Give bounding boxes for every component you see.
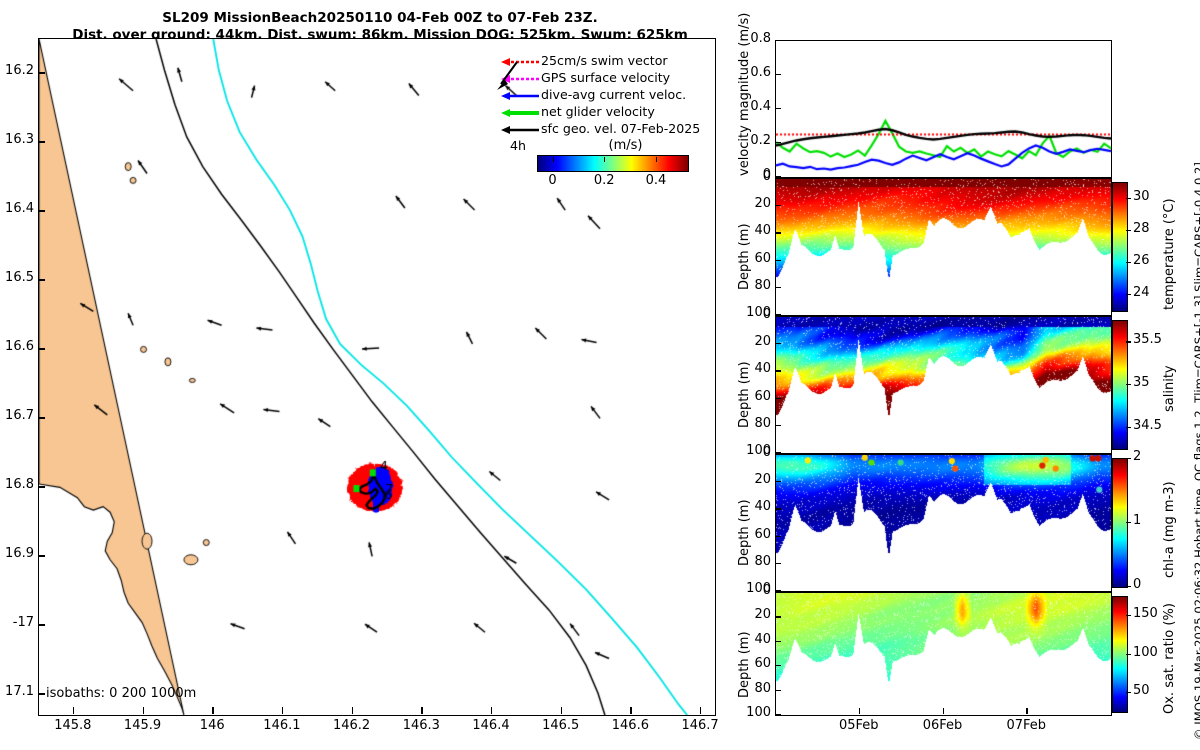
map-x-tick-label: 145.8 <box>47 718 99 733</box>
isobaths-label: isobaths: 0 200 1000m <box>46 686 196 701</box>
velocity-axis-label: velocity magnitude (m/s) <box>737 13 752 176</box>
map-legend: 25cm/s swim vectorGPS surface velocitydi… <box>497 52 712 188</box>
velocity-colorbar-tick <box>604 157 605 162</box>
oxygen-colorbar <box>1112 596 1128 713</box>
map-y-tick-label: 16.9 <box>0 546 34 561</box>
chlorophyll-canvas <box>776 455 1111 591</box>
depth-tick-label: 0 <box>727 445 771 460</box>
depth-tick-label: 100 <box>727 581 771 596</box>
temperature-depth-label: Depth (m) <box>737 223 752 290</box>
time-tick-label: 06Feb <box>909 718 977 733</box>
salinity-canvas <box>776 317 1111 453</box>
map-x-tick-label: 146 <box>186 718 238 733</box>
chlorophyll-panel[interactable] <box>775 454 1112 592</box>
arrow-left-icon <box>497 122 541 136</box>
chlorophyll-depth-label: Depth (m) <box>737 499 752 566</box>
map-x-tick-label: 146.4 <box>465 718 517 733</box>
legend-item-label: 25cm/s swim vector <box>541 53 668 68</box>
legend-item-label: net glider velocity <box>541 104 655 119</box>
page-title-line1: SL209 MissionBeach20250110 04-Feb 00Z to… <box>0 10 760 26</box>
scale-arrow-icon <box>495 60 525 98</box>
depth-tick-label: 0 <box>727 583 771 598</box>
legend-item-label: GPS surface velocity <box>541 70 670 85</box>
map-x-tick-label: 146.3 <box>395 718 447 733</box>
map-x-tick-label: 146.2 <box>326 718 378 733</box>
oxygen-panel[interactable] <box>775 592 1112 716</box>
arrow-left-icon <box>497 105 541 119</box>
map-y-tick-label: -17 <box>0 615 34 630</box>
velocity-colorbar-tick <box>553 157 554 162</box>
map-y-tick-label: 17.1 <box>0 684 34 699</box>
map-x-tick-label: 146.6 <box>604 718 656 733</box>
salinity-panel[interactable] <box>775 316 1112 454</box>
salinity-colorbar <box>1112 320 1128 450</box>
map-y-tick-label: 16.4 <box>0 201 34 216</box>
legend-colorbar-units: (m/s) <box>539 138 712 153</box>
legend-item-1: GPS surface velocity <box>497 69 712 86</box>
temperature-panel[interactable] <box>775 178 1112 316</box>
map-x-tick-label: 146.5 <box>535 718 587 733</box>
depth-tick-label: 100 <box>727 305 771 320</box>
colorbar-tick-label: 0 <box>1133 577 1177 592</box>
oxygen-colorbar-label: Ox. sat. ratio (%) <box>1162 603 1177 714</box>
chlorophyll-colorbar <box>1112 458 1128 588</box>
velocity-colorbar-tick <box>656 157 657 162</box>
legend-item-3: net glider velocity <box>497 103 712 120</box>
depth-tick-label: 100 <box>727 705 771 720</box>
velocity-colorbar <box>537 155 689 172</box>
temperature-canvas <box>776 179 1111 315</box>
legend-item-label: dive-avg current veloc. <box>541 87 686 102</box>
velocity-magnitude-canvas <box>776 41 1111 177</box>
map-x-tick-label: 146.1 <box>256 718 308 733</box>
velocity-colorbar-tick-label: 0.2 <box>582 173 626 188</box>
temperature-colorbar <box>1112 182 1128 312</box>
map-x-tick-label: 146.7 <box>674 718 726 733</box>
map-y-tick-label: 16.5 <box>0 270 34 285</box>
depth-tick-label: 20 <box>727 196 771 211</box>
oxygen-depth-label: Depth (m) <box>737 631 752 698</box>
legend-item-label: sfc geo. vel. 07-Feb-2025 <box>541 121 700 136</box>
imos-credit: © IMOS 19-Mar-2025 02:06:32 Hobart time.… <box>1192 162 1200 740</box>
legend-item-4: sfc geo. vel. 07-Feb-2025 <box>497 120 712 137</box>
depth-tick-label: 100 <box>727 443 771 458</box>
colorbar-tick-label: 35.5 <box>1133 332 1177 347</box>
legend-item-2: dive-avg current veloc. <box>497 86 712 103</box>
salinity-colorbar-label: salinity <box>1162 365 1177 412</box>
depth-tick-label: 20 <box>727 607 771 622</box>
time-tick-label: 05Feb <box>825 718 893 733</box>
map-y-tick-label: 16.3 <box>0 132 34 147</box>
map-y-tick-label: 16.2 <box>0 63 34 78</box>
colorbar-tick-label: 2 <box>1133 449 1177 464</box>
velocity-colorbar-tick-label: 0 <box>531 173 575 188</box>
time-tick-label: 07Feb <box>992 718 1060 733</box>
salinity-depth-label: Depth (m) <box>737 361 752 428</box>
chlorophyll-colorbar-label: chl-a (mg m-3) <box>1162 481 1177 578</box>
map-y-tick-label: 16.7 <box>0 408 34 423</box>
legend-item-0: 25cm/s swim vector <box>497 52 712 69</box>
depth-tick-label: 20 <box>727 334 771 349</box>
temperature-colorbar-label: temperature (°C) <box>1162 198 1177 310</box>
map-y-tick-label: 16.8 <box>0 477 34 492</box>
depth-tick-label: 0 <box>727 307 771 322</box>
map-y-tick-label: 16.6 <box>0 339 34 354</box>
velocity-colorbar-tick-label: 0.4 <box>634 173 678 188</box>
oxygen-canvas <box>776 593 1111 715</box>
velocity-magnitude-panel[interactable] <box>775 40 1112 178</box>
depth-tick-label: 20 <box>727 472 771 487</box>
map-x-tick-label: 145.9 <box>117 718 169 733</box>
colorbar-tick-label: 34.5 <box>1133 418 1177 433</box>
legend-scale-note: 4h <box>497 138 539 153</box>
